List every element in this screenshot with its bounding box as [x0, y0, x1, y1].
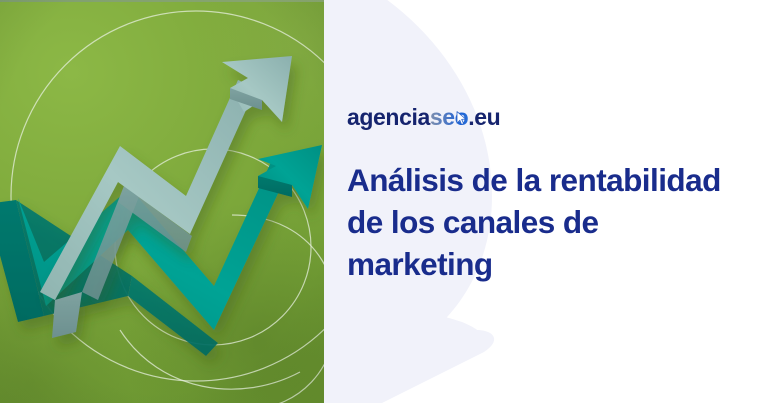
- photo-top-edge-line: [0, 0, 324, 2]
- brand-logo[interactable]: agencia seo .eu: [347, 106, 500, 129]
- content-inner: agencia seo .eu Análisis de la rentabili…: [347, 0, 747, 403]
- logo-text-agencia: agencia: [347, 106, 430, 129]
- marketing-banner: agencia seo .eu Análisis de la rentabili…: [0, 0, 768, 403]
- logo-text-tld: .eu: [468, 106, 500, 129]
- light-sage-arrow: [40, 56, 292, 338]
- hero-photo-panel: [0, 0, 324, 403]
- logo-text-seo: seo: [430, 104, 468, 130]
- content-panel: agencia seo .eu Análisis de la rentabili…: [324, 0, 768, 403]
- page-title: Análisis de la rentabilidad de los canal…: [347, 160, 739, 286]
- dark-teal-arrow: [0, 145, 322, 356]
- logo-seo-group: seo: [430, 106, 468, 129]
- growth-arrows-illustration: [0, 0, 324, 403]
